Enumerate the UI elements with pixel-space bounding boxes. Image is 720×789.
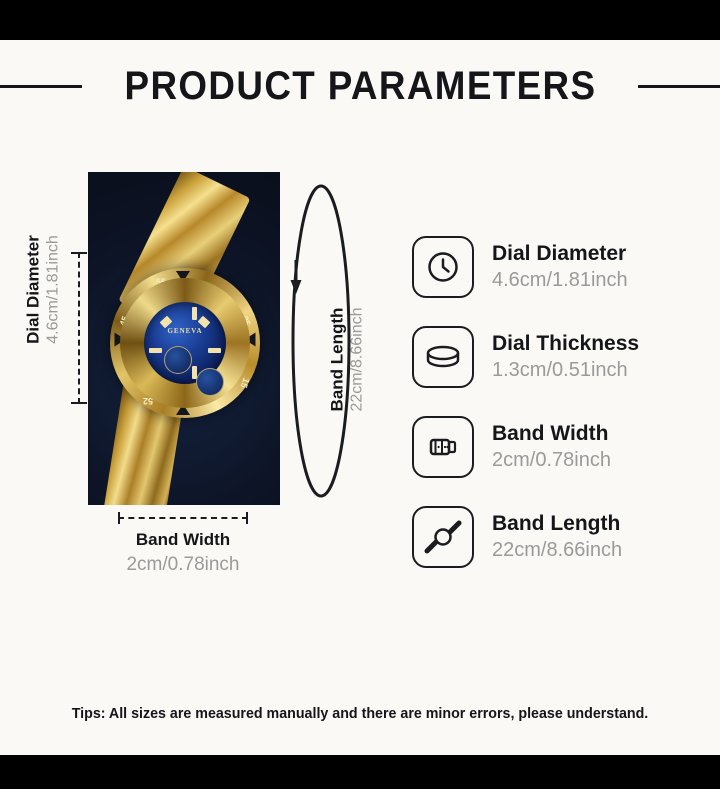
dial-index-3 [208,348,221,353]
dial-index-12 [192,307,197,320]
dial-diameter-cap-bottom [71,402,87,404]
spec-value-band-width: 2cm/0.78inch [492,449,611,473]
letterbox-bottom [0,755,720,789]
band-length-callout-value: 22cm/8.66inch [349,244,367,476]
disc-thickness-icon [412,326,474,388]
spec-row-band-length: Band Length 22cm/8.66inch [412,492,702,582]
dial-diameter-callout: Dial Diameter 4.6cm/1.81inch [24,195,63,385]
dial-diameter-bracket [78,252,80,404]
dial-diameter-bracket-line [78,252,80,404]
title-rule-right [638,85,720,88]
page-canvas: PRODUCT PARAMETERS 55 45 05 15 52 [0,40,720,755]
band-width-callout: Band Width 2cm/0.78inch [58,530,308,576]
bezel-number-3: 15 [239,377,252,390]
spec-row-band-width: Band Width 2cm/0.78inch [412,402,702,492]
spec-value-dial-thickness: 1.3cm/0.51inch [492,359,639,383]
spec-name-dial-thickness: Dial Thickness [492,332,639,357]
spec-row-dial-diameter: Dial Diameter 4.6cm/1.81inch [412,222,702,312]
band-width-ruler-line [118,517,248,519]
spec-text-dial-thickness: Dial Thickness 1.3cm/0.51inch [492,332,639,382]
band-length-callout: Band Length 22cm/8.66inch [328,244,367,476]
product-photo: 55 45 05 15 52 [88,172,280,505]
dial-index-9 [149,348,162,353]
dial-diameter-cap-top [71,252,87,254]
spec-text-dial-diameter: Dial Diameter 4.6cm/1.81inch [492,242,628,292]
watch-case: 55 45 05 15 52 [110,268,260,418]
band-width-ruler [118,512,248,524]
spec-name-band-length: Band Length [492,512,622,537]
watch-dial: GENEVA [144,302,226,384]
band-width-callout-name: Band Width [58,530,308,550]
spec-row-dial-thickness: Dial Thickness 1.3cm/0.51inch [412,312,702,402]
spec-text-band-length: Band Length 22cm/8.66inch [492,512,622,562]
letterbox-top [0,0,720,40]
watch-bezel: GENEVA [120,278,250,408]
watch-dial-icon [412,236,474,298]
spec-value-band-length: 22cm/8.66inch [492,539,622,563]
spec-name-band-width: Band Width [492,422,611,447]
watch-strap-icon [412,506,474,568]
dial-brand-text: GENEVA [144,327,226,335]
dial-subdial-bottom [196,368,224,396]
band-length-callout-name: Band Length [328,244,348,476]
product-parameters-image: PRODUCT PARAMETERS 55 45 05 15 52 [0,0,720,789]
band-width-callout-value: 2cm/0.78inch [58,554,308,576]
buckle-clasp-icon [412,416,474,478]
dial-diameter-callout-name: Dial Diameter [24,195,44,385]
spec-value-dial-diameter: 4.6cm/1.81inch [492,269,628,293]
dial-diameter-callout-value: 4.6cm/1.81inch [45,195,63,385]
measurement-diagram: 55 45 05 15 52 [0,40,400,640]
tips-note: Tips: All sizes are measured manually an… [18,705,702,722]
spec-list: Dial Diameter 4.6cm/1.81inch Dial Thickn… [412,222,702,582]
band-width-cap-right [246,512,248,524]
dial-subdial-left [164,346,192,374]
spec-text-band-width: Band Width 2cm/0.78inch [492,422,611,472]
band-width-cap-left [118,512,120,524]
spec-name-dial-diameter: Dial Diameter [492,242,628,267]
